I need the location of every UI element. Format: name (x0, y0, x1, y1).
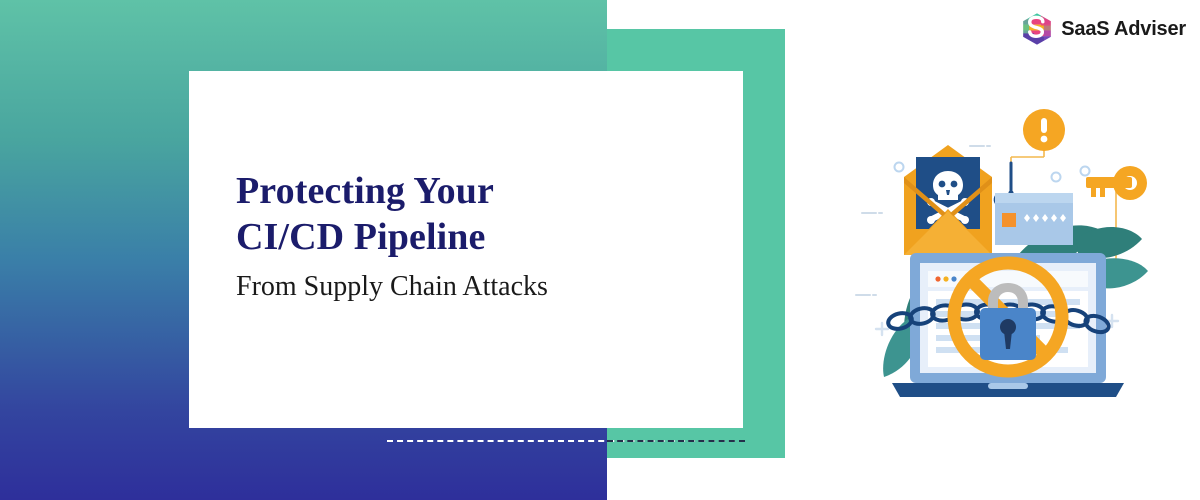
warning-alert-icon (1023, 109, 1065, 151)
headline-line-1: Protecting Your (236, 168, 706, 214)
marketing-banner: Protecting Your CI/CD Pipeline From Supp… (0, 0, 1200, 500)
malicious-email-envelope-icon (904, 145, 992, 255)
credential-card-icon (995, 193, 1073, 245)
dashed-divider-dark (607, 440, 745, 442)
illustration-canvas (848, 105, 1168, 400)
page-subtitle: From Supply Chain Attacks (236, 270, 706, 304)
brand-logo[interactable]: SaaS Adviser (1021, 12, 1186, 46)
hexagon-s-logo-icon (1021, 12, 1053, 46)
headline-line-2: CI/CD Pipeline (236, 214, 706, 260)
headline-block: Protecting Your CI/CD Pipeline From Supp… (236, 168, 706, 304)
page-title: Protecting Your CI/CD Pipeline (236, 168, 706, 260)
brand-name: SaaS Adviser (1061, 18, 1186, 41)
cyber-security-illustration (848, 105, 1168, 400)
card-chip-icon (1002, 213, 1016, 227)
